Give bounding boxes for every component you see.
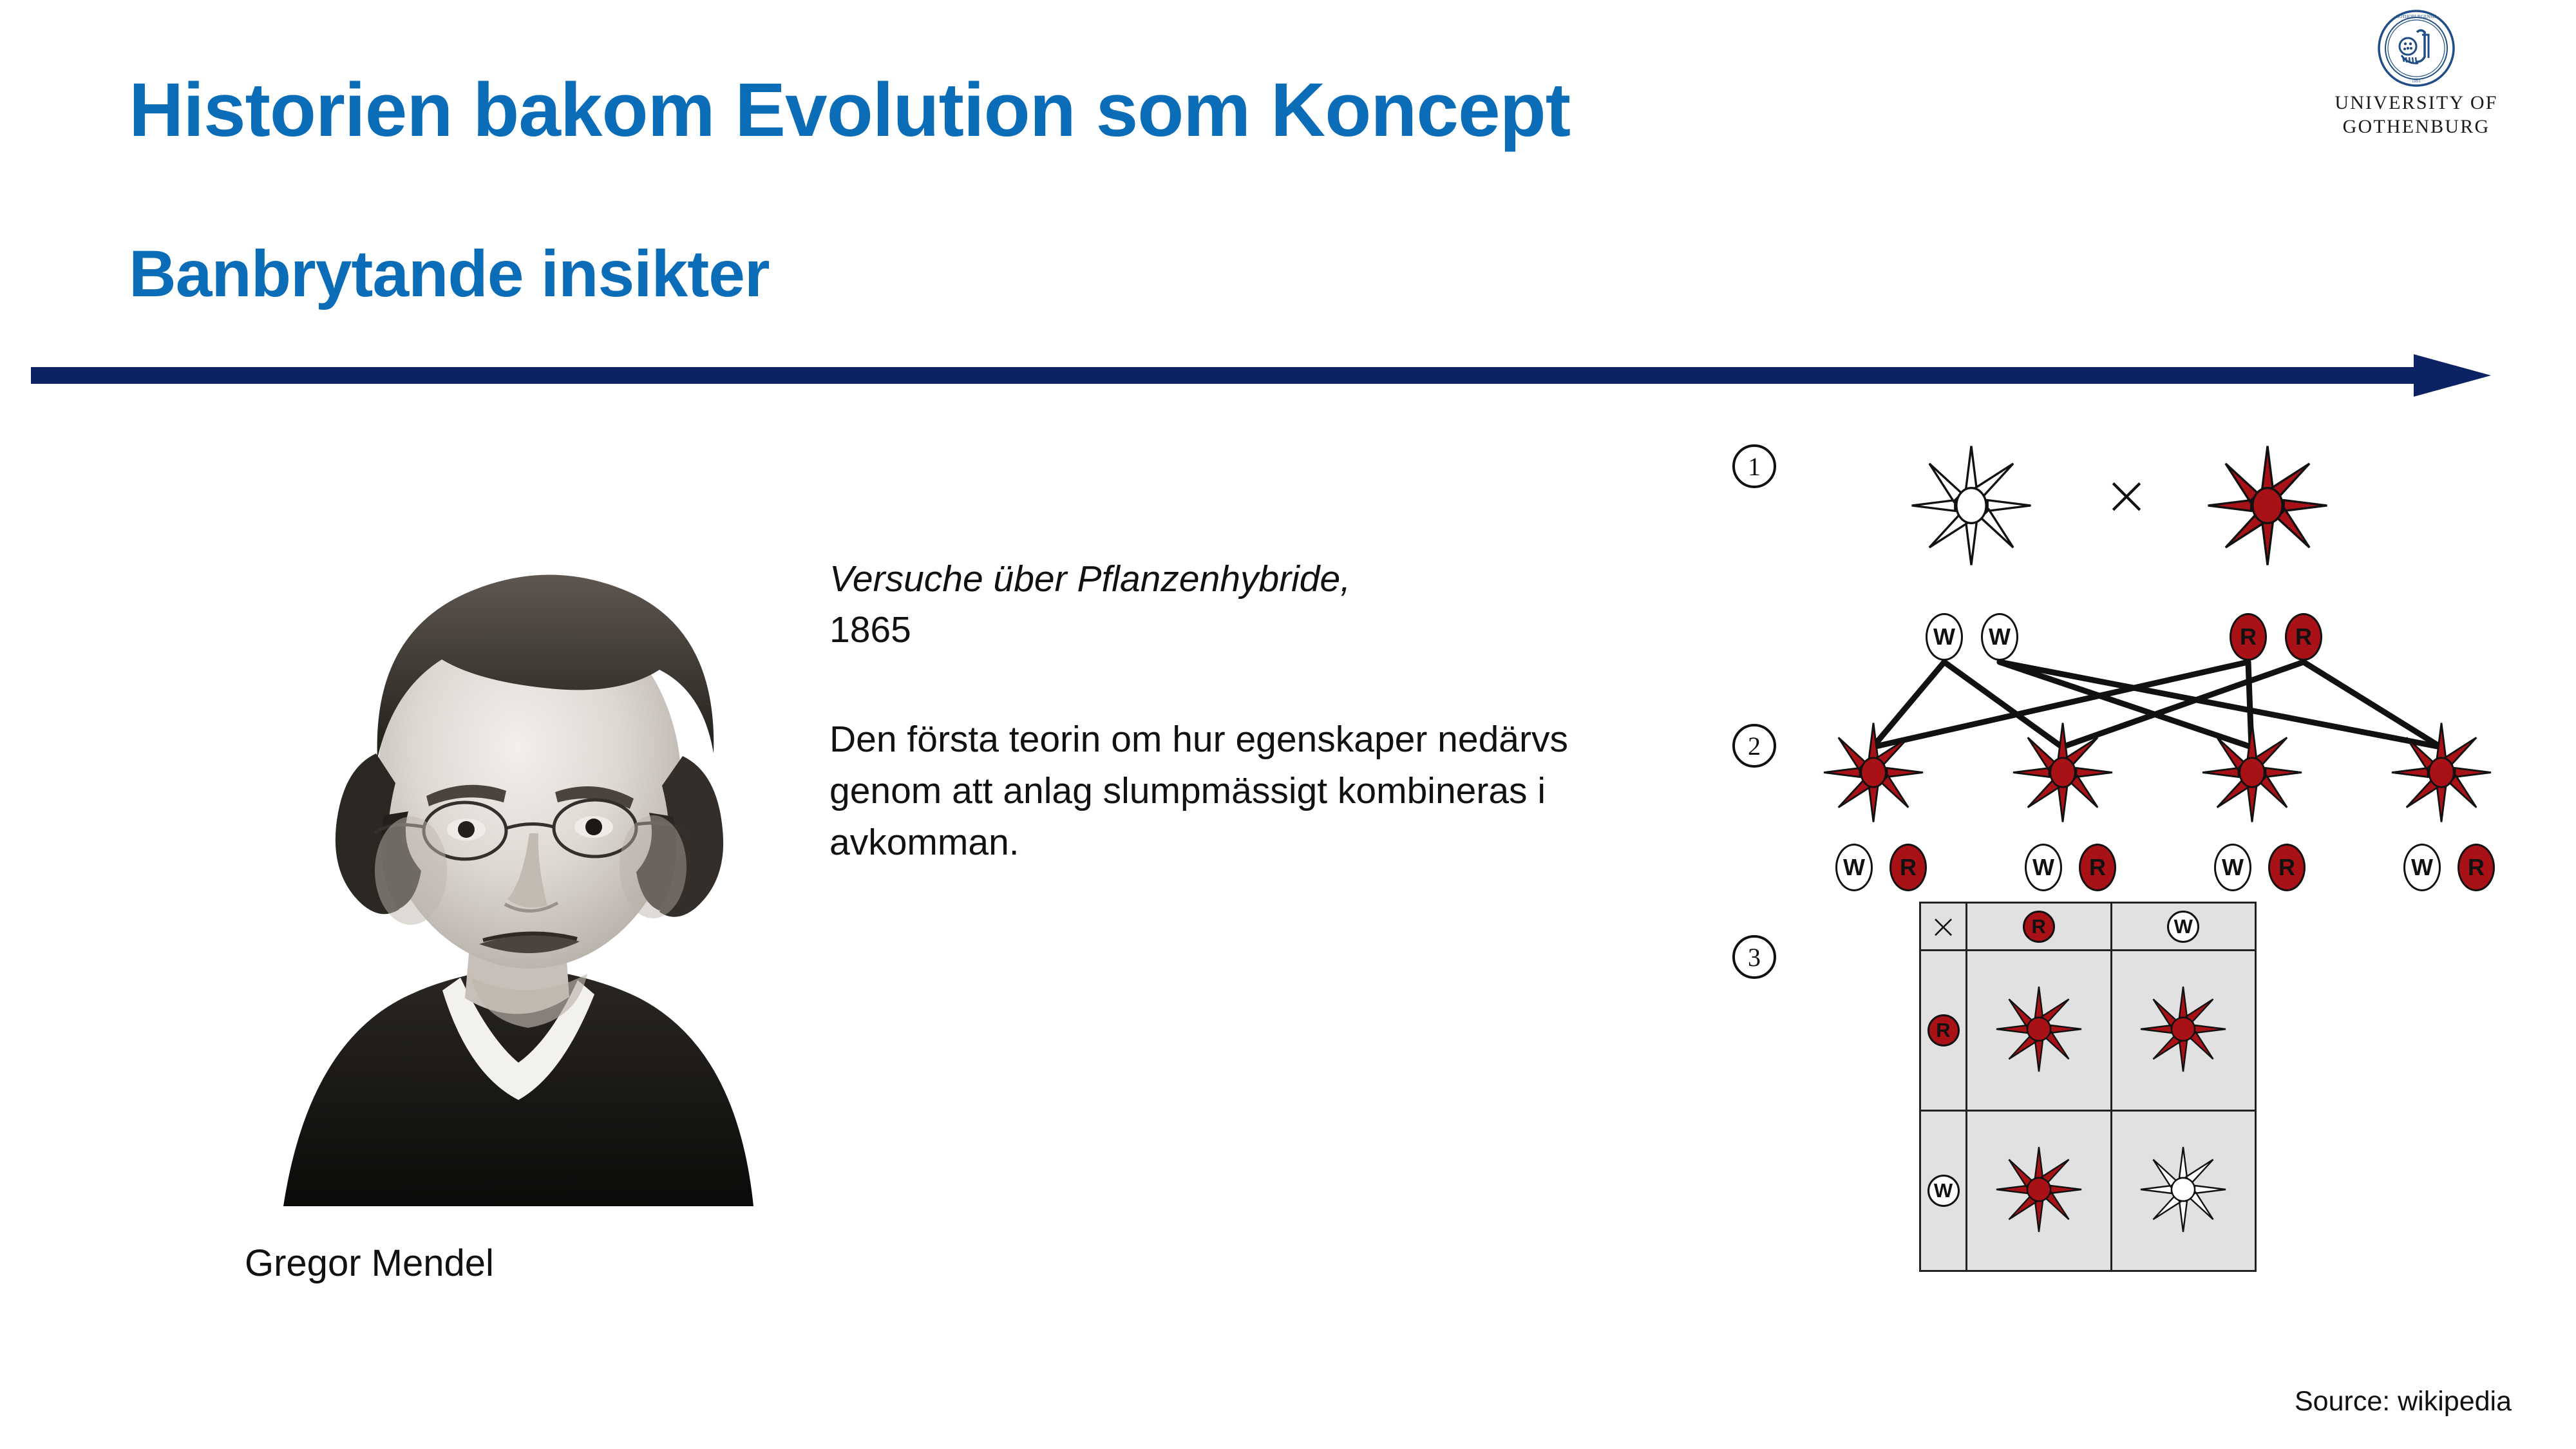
step-badge-3: 3 (1732, 935, 1776, 979)
punnett-cell-rr (1967, 951, 2112, 1111)
punnett-cross-icon: × (1929, 907, 1958, 946)
allele-offspring-4-w: W (2403, 844, 2441, 891)
punnett-row-header-w: W (1920, 1111, 1967, 1271)
punnett-row-allele-w: W (1927, 1175, 1960, 1207)
punnett-row-header-r: R (1920, 951, 1967, 1111)
allele-offspring-1-w: W (1835, 844, 1873, 891)
cross-operator-parents: × (2103, 468, 2150, 523)
punnett-corner-cell: × (1920, 903, 1967, 951)
university-seal-icon: · GOTHOBURGENSIS · · 1891 · (2377, 9, 2456, 88)
punnett-cell-rw (2111, 951, 2256, 1111)
flower-offspring-4 (2383, 716, 2500, 829)
page-subtitle: Banbrytande insikter (129, 240, 770, 308)
reference-title-text: Versuche über Pflanzenhybride, (829, 558, 1350, 600)
flower-offspring-3 (2193, 716, 2311, 829)
allele-offspring-1-r: R (1889, 844, 1927, 891)
source-note: Source: wikipedia (2295, 1386, 2512, 1417)
flower-white-ww-icon (2135, 1141, 2231, 1238)
punnett-row-r: R (1920, 951, 2256, 1111)
page-title: Historien bakom Evolution som Koncept (129, 71, 1570, 151)
slide-root: Historien bakom Evolution som Koncept Ba… (0, 0, 2576, 1449)
logo-line-1: UNIVERSITY OF (2329, 91, 2504, 115)
punnett-row-allele-r: R (1927, 1014, 1960, 1046)
allele-offspring-3-w: W (2214, 844, 2251, 891)
svg-text:· 1891 ·: · 1891 · (2409, 79, 2423, 84)
punnett-col-header-r: R (1967, 903, 2112, 951)
body-text-block: Versuche über Pflanzenhybride, 1865 Den … (829, 554, 1673, 869)
punnett-cell-ww (2111, 1111, 2256, 1271)
reference-year: 1865 (829, 609, 911, 650)
flower-red-parent (2193, 438, 2342, 573)
allele-offspring-4-r: R (2458, 844, 2495, 891)
flower-red-rw-icon (2135, 981, 2231, 1077)
punnett-square-table: × R W R (1919, 902, 2257, 1272)
flower-red-wr-icon (1991, 1141, 2087, 1238)
allele-offspring-3-r: R (2268, 844, 2306, 891)
punnett-header-row: × R W (1920, 903, 2256, 951)
mendelian-inheritance-diagram: 1 2 3 × (1732, 451, 2524, 1352)
portrait-caption: Gregor Mendel (245, 1242, 494, 1285)
punnett-col-allele-r: R (2023, 911, 2055, 943)
step-badge-1: 1 (1732, 444, 1776, 488)
reference-title: Versuche über Pflanzenhybride, 1865 (829, 554, 1673, 655)
punnett-col-header-w: W (2111, 903, 2256, 951)
punnett-row-w: W (1920, 1111, 2256, 1271)
punnett-cell-wr (1967, 1111, 2112, 1271)
university-logo: · GOTHOBURGENSIS · · 1891 · UNIVERSITY O… (2329, 9, 2504, 138)
flower-white-parent (1897, 438, 2045, 573)
body-description: Den första teorin om hur egenskaper nedä… (829, 714, 1673, 868)
portrait-image (238, 527, 837, 1206)
allele-offspring-2-r: R (2079, 844, 2116, 891)
allele-offspring-2-w: W (2025, 844, 2062, 891)
svg-text:· GOTHOBURGENSIS ·: · GOTHOBURGENSIS · (2393, 14, 2439, 19)
flower-offspring-1 (1815, 716, 1932, 829)
logo-line-2: GOTHENBURG (2329, 115, 2504, 139)
flower-offspring-2 (2004, 716, 2121, 829)
flower-red-rr-icon (1991, 981, 2087, 1077)
divider-arrow (31, 353, 2530, 398)
punnett-col-allele-w: W (2167, 911, 2199, 943)
